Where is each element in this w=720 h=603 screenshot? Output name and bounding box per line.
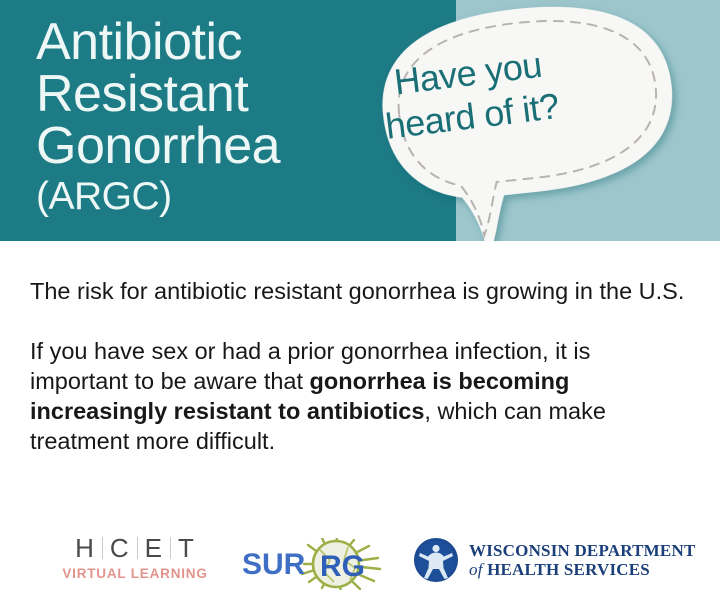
dhs-seal-icon	[413, 537, 459, 583]
hcet-letter-e: E	[138, 534, 170, 562]
infographic-poster: Antibiotic Resistant Gonorrhea (ARGC) Ha…	[0, 0, 720, 603]
hcet-letter-t: T	[171, 534, 202, 562]
dhs-of-word: of	[469, 560, 487, 579]
body-copy: The risk for antibiotic resistant gonorr…	[30, 276, 690, 456]
surrg-logo-graphic: SUR RG	[238, 538, 398, 590]
dhs-line-2: of HEALTH SERVICES	[469, 560, 695, 579]
header-banner: Antibiotic Resistant Gonorrhea (ARGC) Ha…	[0, 0, 720, 241]
dhs-line-2-main: HEALTH SERVICES	[487, 560, 650, 579]
logo-row: H C E T VIRTUAL LEARNING	[0, 524, 720, 599]
hcet-letters: H C E T	[55, 534, 215, 562]
hcet-tagline: VIRTUAL LEARNING	[55, 566, 215, 581]
paragraph-2: If you have sex or had a prior gonorrhea…	[30, 336, 690, 456]
hcet-letter-c: C	[103, 534, 137, 562]
surrg-logo: SUR RG SUR RG	[238, 538, 398, 590]
surrg-text-right: RG	[320, 550, 365, 583]
surrg-text-left: SUR	[242, 548, 306, 581]
hcet-letter-h: H	[68, 534, 102, 562]
wisconsin-dhs-logo: WISCONSIN DEPARTMENT of HEALTH SERVICES	[413, 537, 695, 583]
hcet-logo: H C E T VIRTUAL LEARNING	[55, 534, 215, 581]
speech-bubble: Have you heard of it?	[356, 0, 706, 241]
dhs-wordmark: WISCONSIN DEPARTMENT of HEALTH SERVICES	[469, 541, 695, 579]
dhs-line-1: WISCONSIN DEPARTMENT	[469, 541, 695, 560]
paragraph-1: The risk for antibiotic resistant gonorr…	[30, 276, 690, 306]
